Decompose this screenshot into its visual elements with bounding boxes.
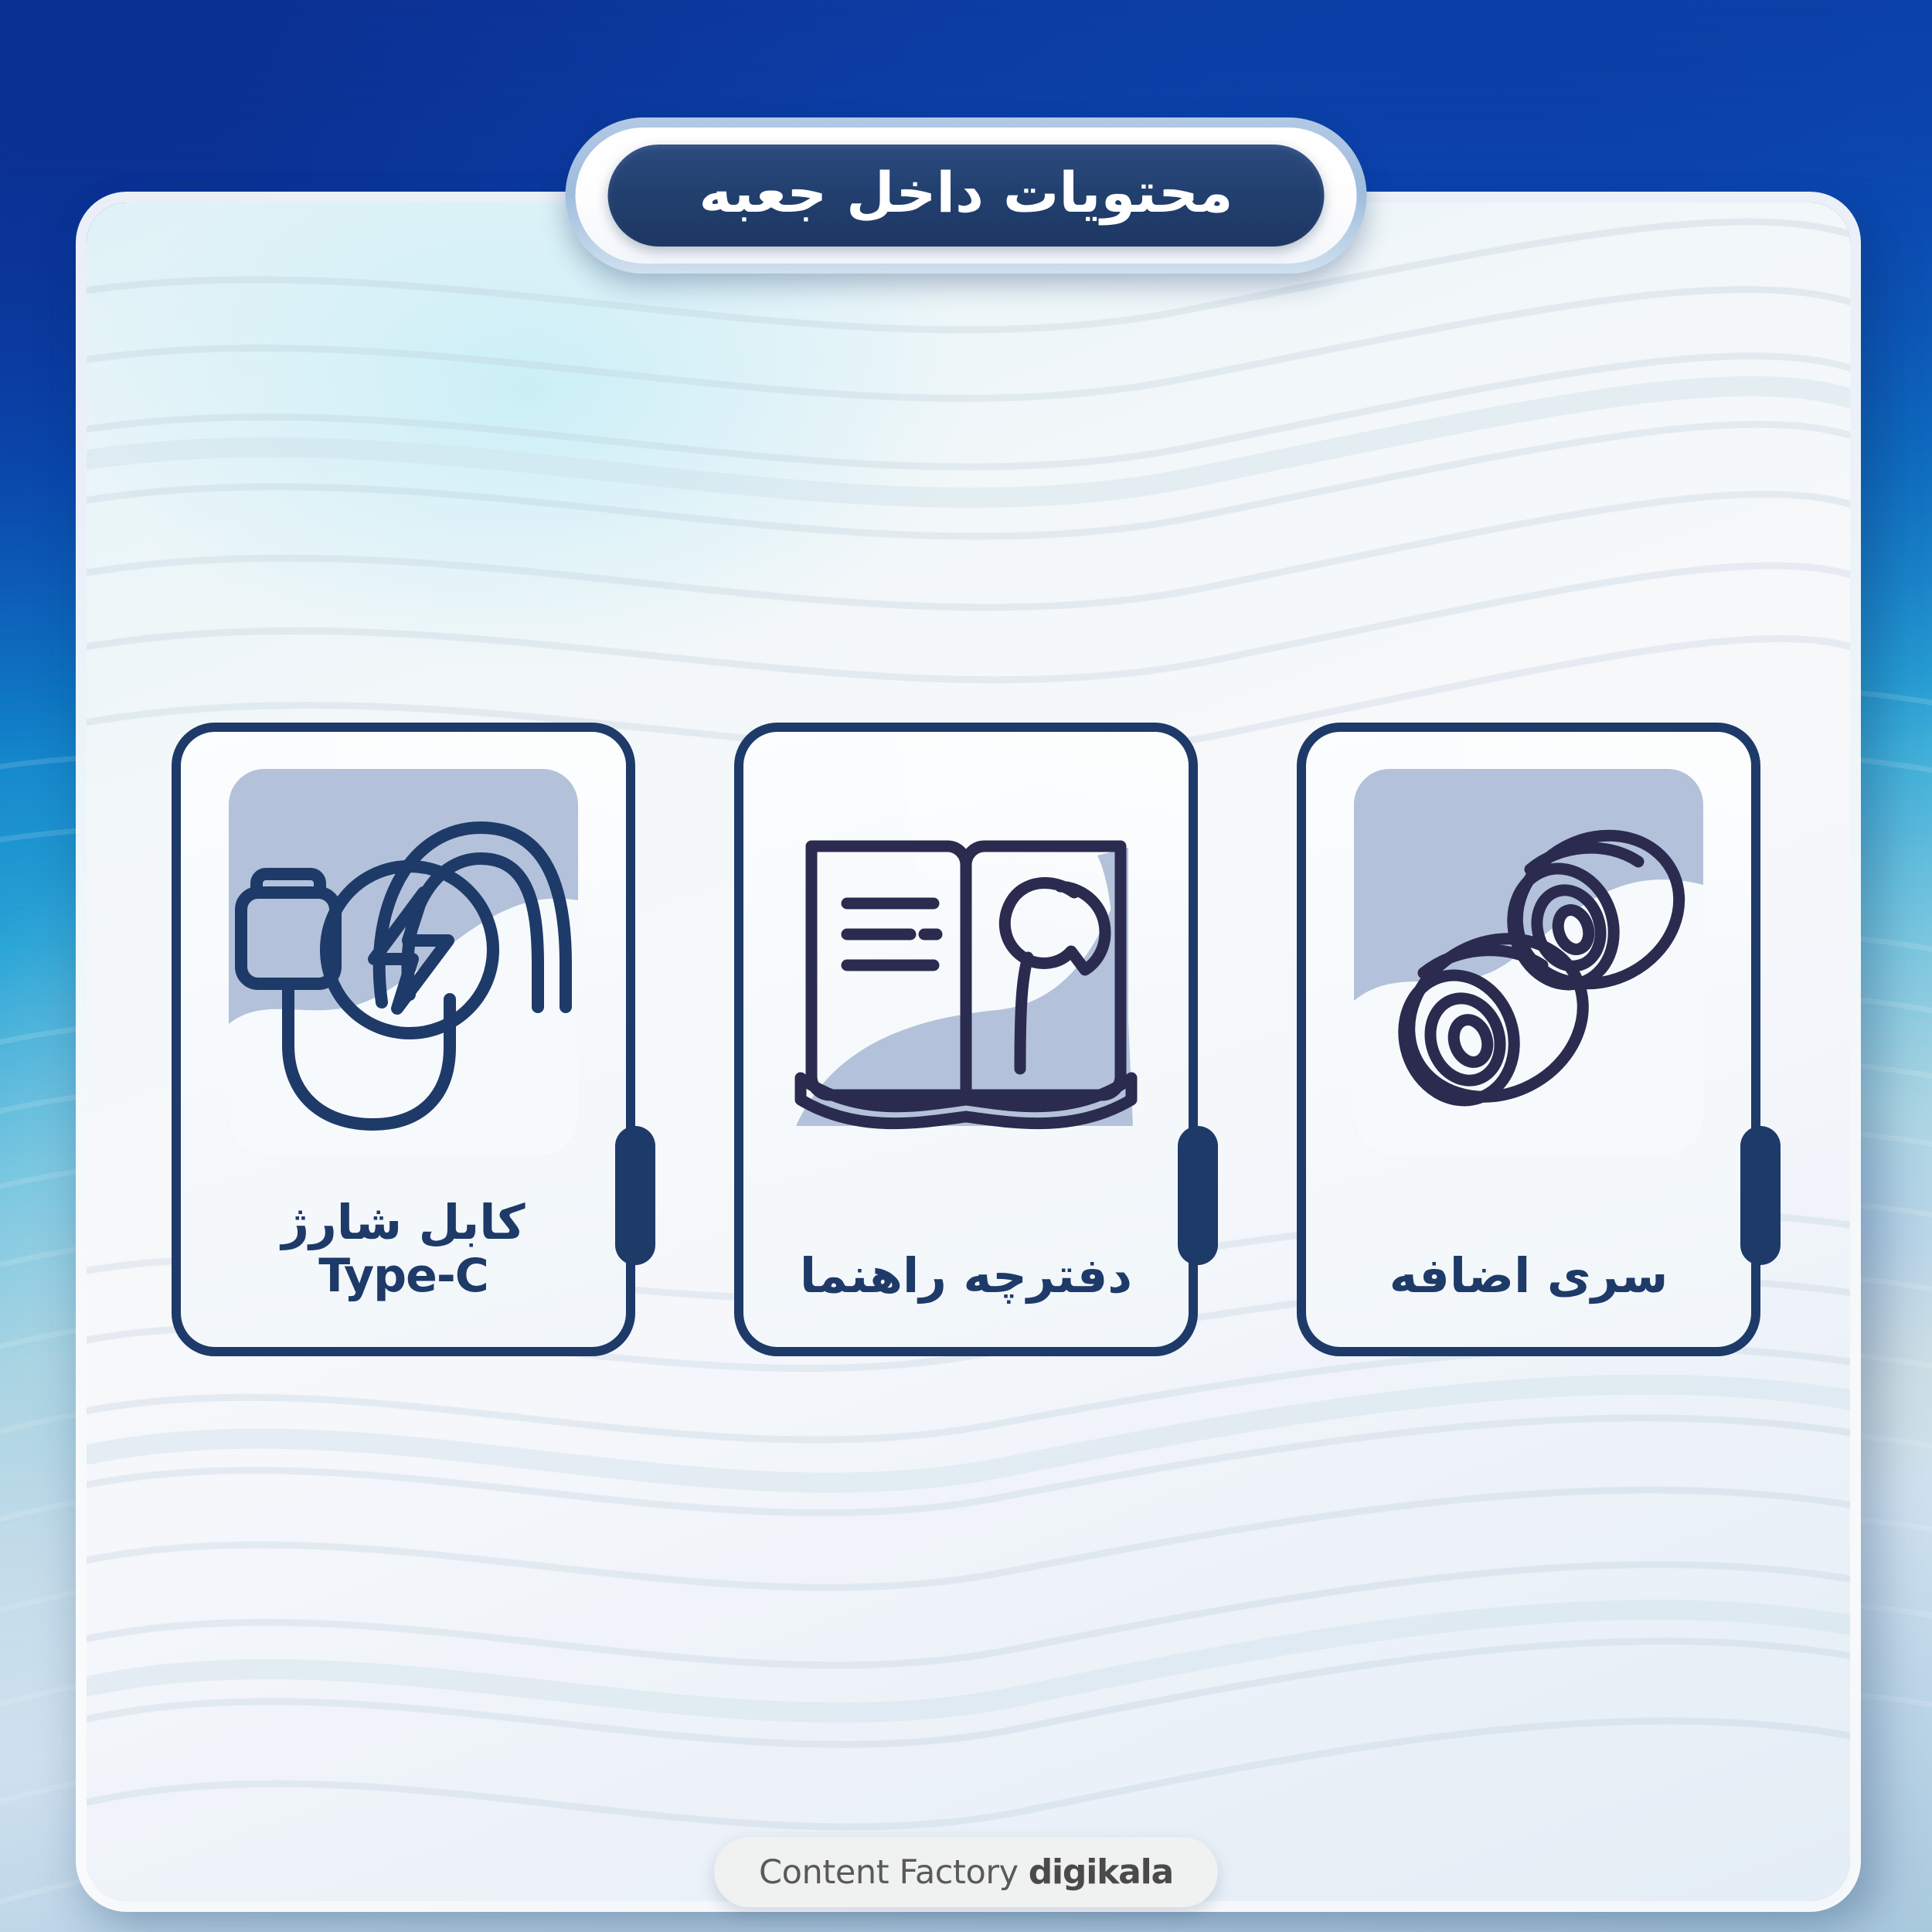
manual-book-wrench-icon: [765, 763, 1167, 1165]
infographic-canvas: محتویات داخل جعبه: [0, 0, 1932, 1932]
title-pill: محتویات داخل جعبه: [608, 145, 1325, 247]
card-tab-handle: [615, 1126, 655, 1265]
card-label-line1: کابل شارژ: [181, 1195, 626, 1250]
title-white-ring: محتویات داخل جعبه: [576, 128, 1357, 264]
card-charging-cable[interactable]: کابل شارژ Type-C: [172, 723, 635, 1356]
card-frame: دفترچه راهنما: [734, 723, 1198, 1356]
card-label-line2: Type-C: [181, 1250, 626, 1304]
card-extra-tips[interactable]: سری اضافه: [1297, 723, 1760, 1356]
footer-logo-badge: digikala Content Factory: [714, 1837, 1218, 1907]
title-outer-ring: محتویات داخل جعبه: [566, 117, 1367, 274]
card-label-line1: دفترچه راهنما: [743, 1248, 1189, 1304]
earbud-tips-icon: [1328, 763, 1730, 1165]
card-label-line1: سری اضافه: [1306, 1248, 1751, 1304]
card-user-manual[interactable]: دفترچه راهنما: [734, 723, 1198, 1356]
card-tab-handle: [1740, 1126, 1781, 1265]
brand-name: digikala: [1029, 1852, 1173, 1892]
usb-type-c-charging-cable-icon: [202, 763, 604, 1165]
page-title: محتویات داخل جعبه: [699, 165, 1233, 220]
brand-subtitle: Content Factory: [759, 1853, 1019, 1892]
card-tab-handle: [1178, 1126, 1218, 1265]
title-banner: محتویات داخل جعبه: [566, 117, 1367, 274]
box-contents-card-row: سری اضافه: [0, 723, 1932, 1356]
card-label: سری اضافه: [1306, 1248, 1751, 1304]
card-label: دفترچه راهنما: [743, 1248, 1189, 1304]
card-frame: کابل شارژ Type-C: [172, 723, 635, 1356]
card-label: کابل شارژ Type-C: [181, 1195, 626, 1304]
card-frame: سری اضافه: [1297, 723, 1760, 1356]
